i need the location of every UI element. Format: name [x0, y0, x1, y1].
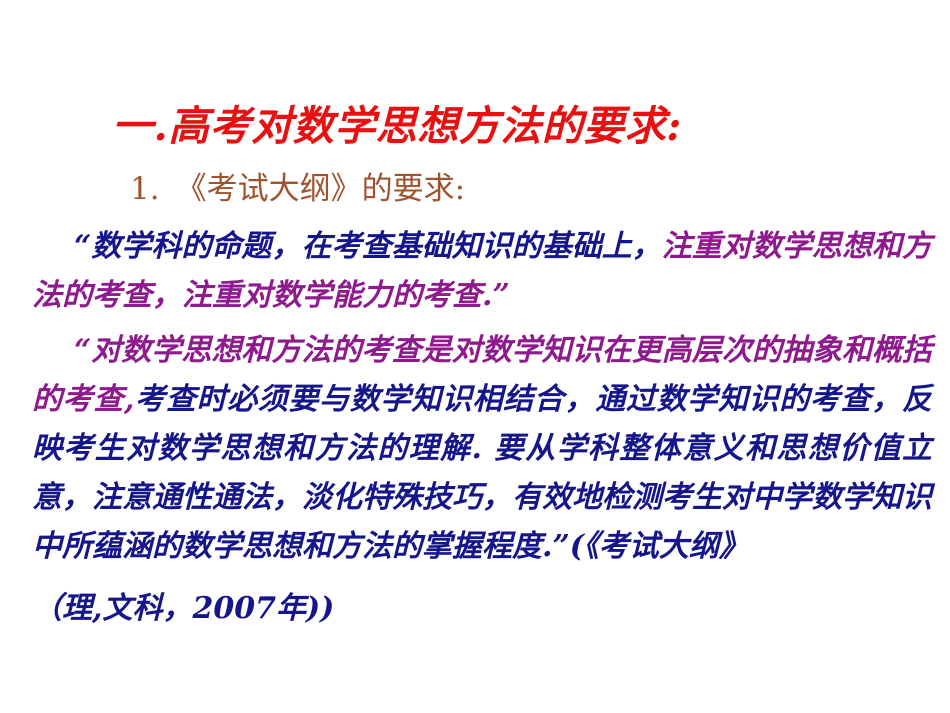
- quote-two-blue-text: 考查时必须要与数学知识相结合，通过数学知识的考查，反映考生对数学思想和方法的理解…: [32, 382, 932, 564]
- sub-heading-text: 《考试大纲》的要求:: [176, 171, 465, 207]
- quote-block-one: “数学科的命题，在考查基础知识的基础上，注重对数学思想和方法的考查，注重对数学能…: [32, 222, 932, 320]
- slide-canvas: 一.高考对数学思想方法的要求: 1.《考试大纲》的要求: “数学科的命题，在考查…: [0, 0, 950, 713]
- sub-heading-number: 1.: [130, 171, 160, 207]
- quote-source-line: （理,文科，2007年)): [32, 584, 932, 633]
- sub-heading: 1.《考试大纲》的要求:: [130, 172, 465, 208]
- quote-one-blue-text: “数学科的命题，在考查基础知识的基础上，: [74, 229, 662, 264]
- quote-block-two: “对数学思想和方法的考查是对数学知识在更高层次的抽象和概括的考查,考查时必须要与…: [32, 326, 932, 571]
- page-title: 一.高考对数学思想方法的要求:: [112, 104, 682, 150]
